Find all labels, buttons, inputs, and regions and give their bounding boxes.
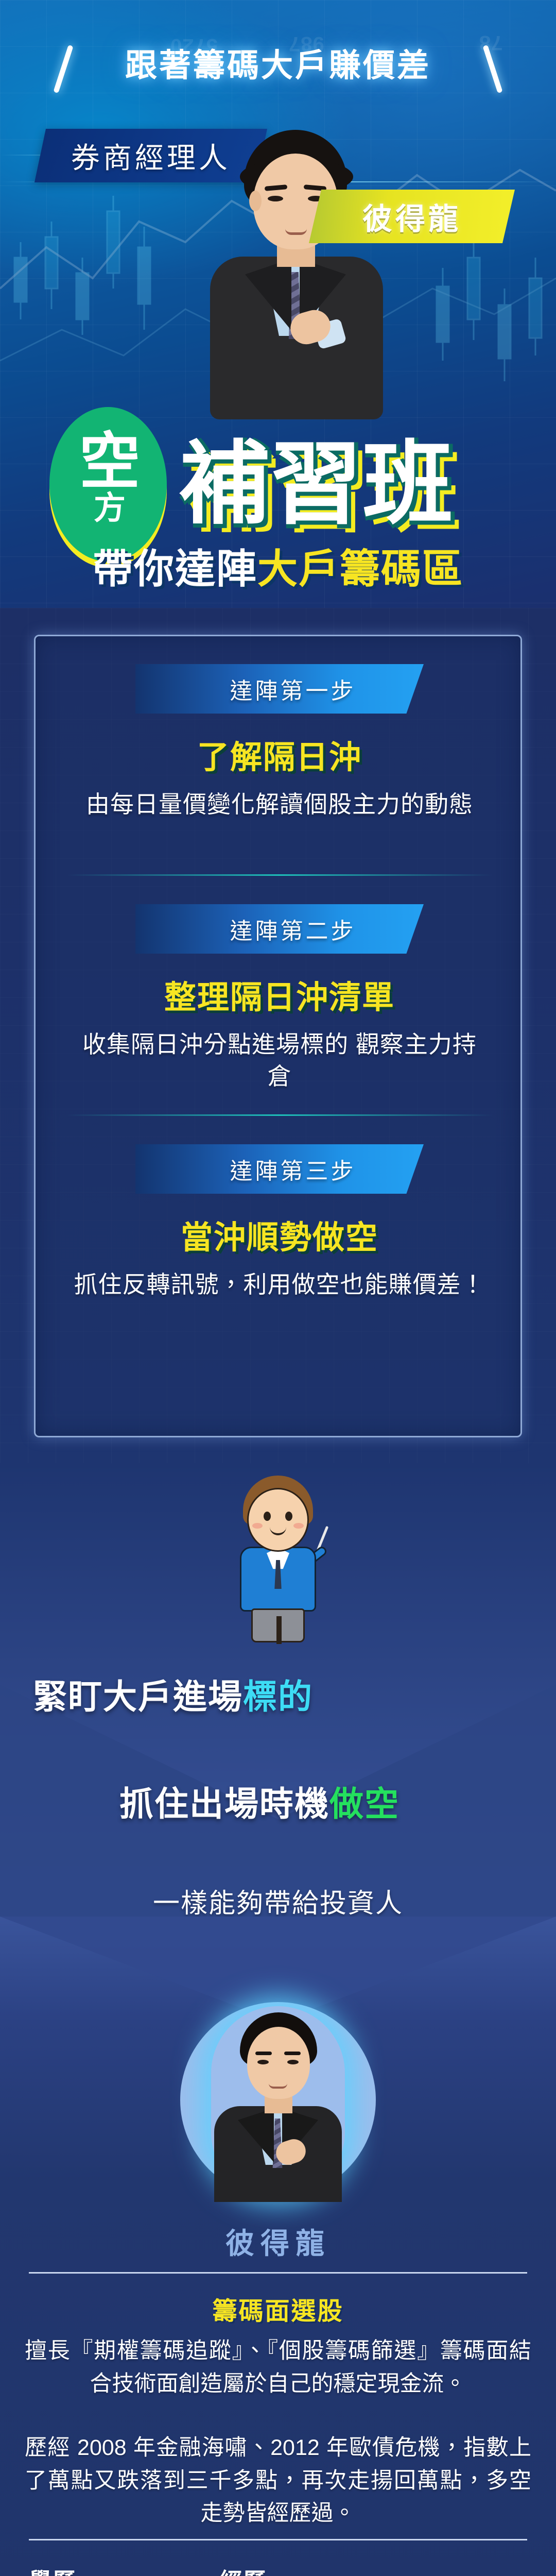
step-ribbon: 達陣第一步 — [135, 664, 424, 714]
bio-paragraph-1: 擅長『期權籌碼追蹤』、『個股籌碼篩選』籌碼面結合技術面創造屬於自己的穩定現金流。 — [25, 2335, 531, 2400]
title-badge-main: 空 — [79, 428, 139, 496]
slogan-line-1-cyan: 標的 — [243, 1677, 313, 1716]
presenter-name-badge: 彼得龍 — [309, 190, 515, 243]
steps-section: 達陣第一步 了解隔日沖 由每日量價變化解讀個股主力的動態 達陣第二步 整理隔日沖… — [0, 608, 556, 1463]
slogan-line-1-white: 緊盯大戶進場 — [33, 1677, 243, 1716]
step-ribbon: 達陣第三步 — [135, 1144, 424, 1194]
step-ribbon-label: 達陣第二步 — [203, 912, 356, 945]
credentials-block: 學歷 東海企管學士 經歷 國泰期貨法人業務 寶來證券營業員 大眾證券營業台主管 — [29, 2563, 527, 2576]
step-title: 當沖順勢做空 — [36, 1211, 524, 1258]
bio-divider-top — [29, 2272, 527, 2274]
bio-section: 彼得龍 籌碼面選股 擅長『期權籌碼追蹤』、『個股籌碼篩選』籌碼面結合技術面創造屬… — [0, 1917, 556, 2576]
steps-panel: 達陣第一步 了解隔日沖 由每日量價變化解讀個股主力的動態 達陣第二步 整理隔日沖… — [34, 635, 522, 1437]
slogan-line-2: 抓住出場時機做空 — [0, 1776, 556, 1826]
step-body: 抓住反轉訊號，利用做空也能賺價差！ — [36, 1269, 524, 1301]
mascot-character — [222, 1476, 334, 1646]
hero-subtitle-white: 帶你達陣 — [93, 546, 257, 591]
slogan-block: 緊盯大戶進場標的 抓住出場時機做空 一樣能夠帶給投資人 滿滿獲利！ — [0, 1669, 556, 1917]
title-badge-sub: 方 — [66, 493, 152, 524]
step-body: 由每日量價變化解讀個股主力的動態 — [36, 789, 524, 821]
slogan-line-2-white: 抓住出場時機 — [119, 1785, 329, 1823]
presenter-photo — [200, 130, 391, 418]
step-divider — [66, 874, 493, 876]
step-item: 達陣第二步 整理隔日沖清單 收集隔日沖分點進場標的 觀察主力持倉 — [36, 904, 524, 1092]
presenter-name-label: 彼得龍 — [362, 195, 461, 238]
step-body: 收集隔日沖分點進場標的 觀察主力持倉 — [36, 1029, 524, 1092]
education-column: 學歷 東海企管學士 — [29, 2563, 199, 2576]
step-ribbon-label: 達陣第一步 — [203, 672, 356, 705]
hero-section: 5720 987 78 +2.96 897.02 跟著籌碼大戶賺價差 券商經理人 — [0, 0, 556, 608]
step-ribbon-label: 達陣第三步 — [203, 1153, 356, 1185]
hero-main-title: 補習班 — [179, 439, 454, 530]
slogan-line-2-green: 做空 — [329, 1785, 399, 1823]
title-badge-text: 空 方 — [66, 433, 152, 524]
bio-heading: 籌碼面選股 — [0, 2291, 556, 2327]
step-item: 達陣第一步 了解隔日沖 由每日量價變化解讀個股主力的動態 — [36, 664, 524, 821]
step-title: 了解隔日沖 — [36, 731, 524, 777]
step-item: 達陣第三步 當沖順勢做空 抓住反轉訊號，利用做空也能賺價差！ — [36, 1144, 524, 1301]
promo-page: 5720 987 78 +2.96 897.02 跟著籌碼大戶賺價差 券商經理人 — [0, 0, 556, 2576]
step-ribbon: 達陣第二步 — [135, 904, 424, 954]
avatar — [180, 2002, 376, 2208]
step-divider — [66, 1114, 493, 1116]
slogan-line-1: 緊盯大戶進場標的 — [0, 1669, 556, 1719]
bio-divider-bottom — [29, 2539, 527, 2540]
step-title: 整理隔日沖清單 — [36, 971, 524, 1018]
education-title: 學歷 — [29, 2563, 199, 2576]
bio-paragraph-2: 歷經 2008 年金融海嘯、2012 年歐債危機，指數上了萬點又跌落到三千多點，… — [25, 2432, 531, 2530]
hero-subtitle: 帶你達陣大戶籌碼區 — [0, 537, 556, 595]
hero-subtitle-yellow: 大戶籌碼區 — [257, 546, 463, 591]
hero-kicker-text: 跟著籌碼大戶賺價差 — [0, 39, 556, 86]
experience-title: 經歷 — [219, 2563, 527, 2576]
bio-name: 彼得龍 — [0, 2221, 556, 2262]
slogan-section: 緊盯大戶進場標的 抓住出場時機做空 一樣能夠帶給投資人 滿滿獲利！ — [0, 1463, 556, 1917]
slogan-line-3: 一樣能夠帶給投資人 — [0, 1882, 556, 1917]
experience-column: 經歷 國泰期貨法人業務 寶來證券營業員 大眾證券營業台主管 — [219, 2563, 527, 2576]
